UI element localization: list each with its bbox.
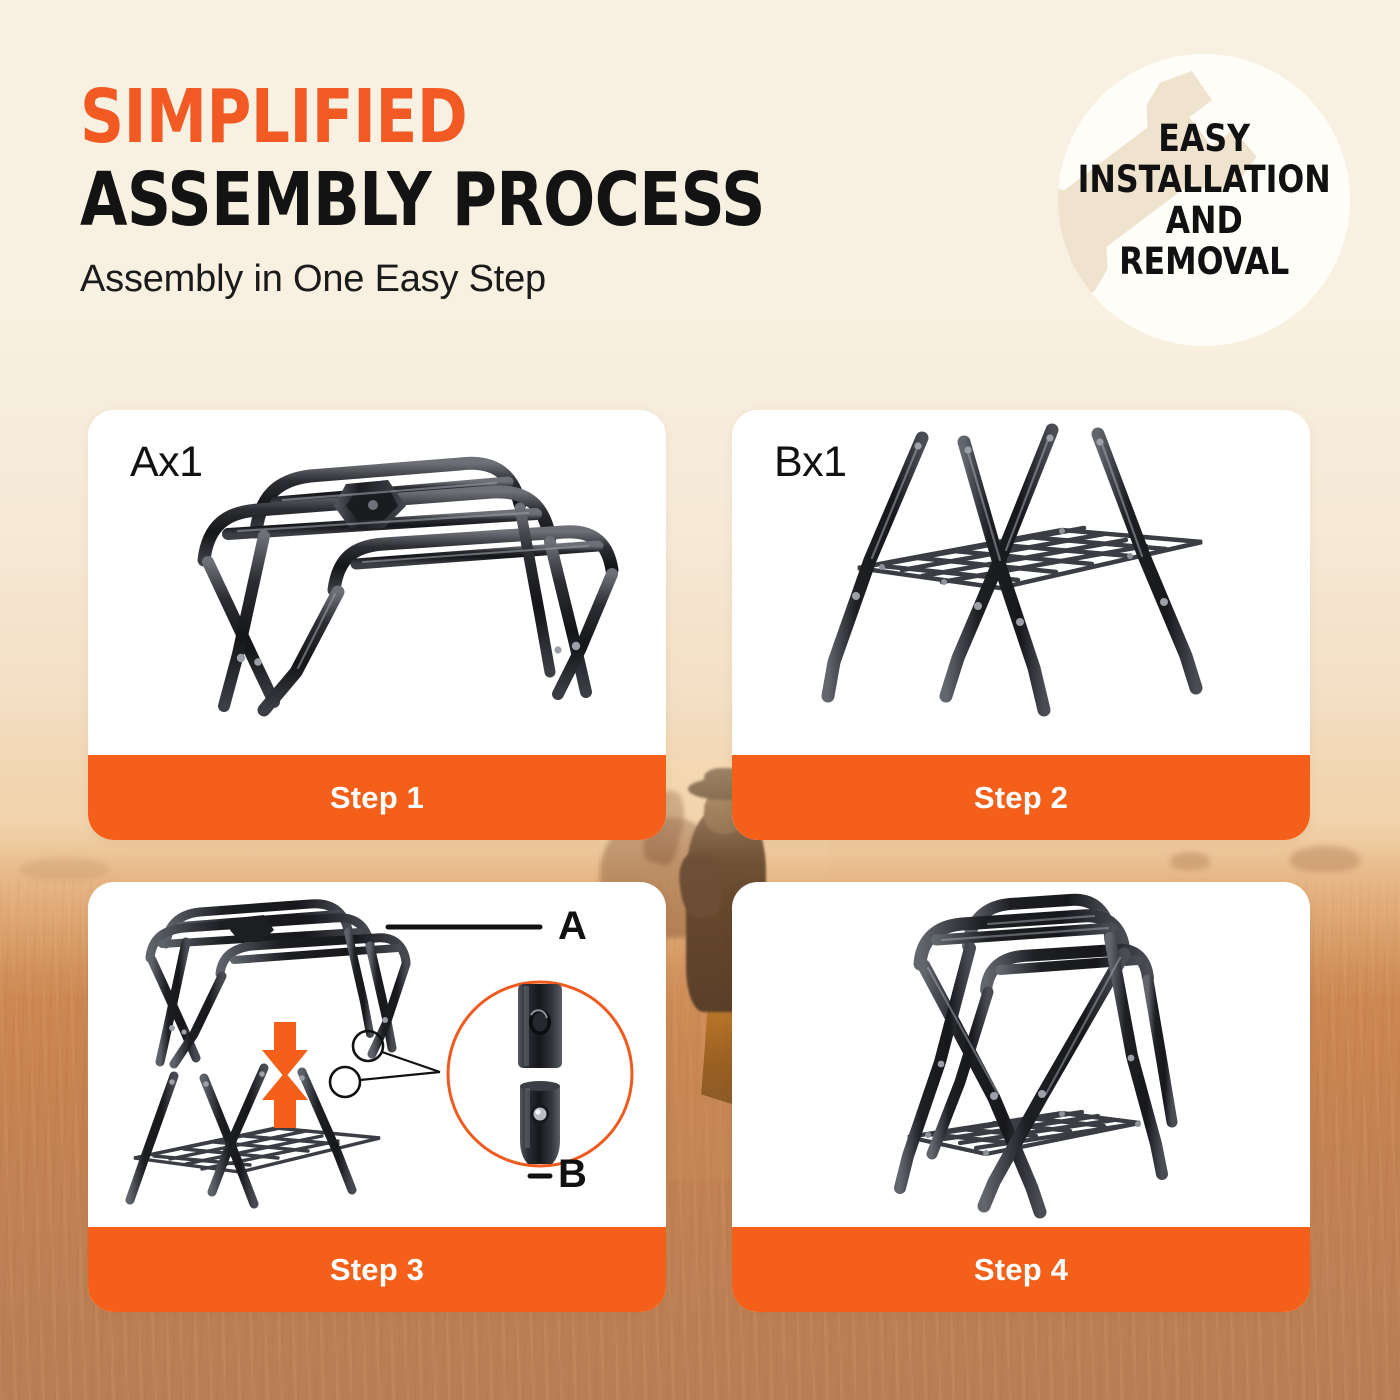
page-title-line1: SIMPLIFIED xyxy=(80,78,834,156)
badge-line-4: REMOVAL xyxy=(1077,241,1330,282)
upper-tube-detail xyxy=(518,984,562,1068)
step-3-footer: Step 3 xyxy=(88,1227,666,1312)
header-block: SIMPLIFIED ASSEMBLY PROCESS Assembly in … xyxy=(80,78,900,302)
background-bush xyxy=(20,858,110,880)
step-card-2[interactable]: Bx1 xyxy=(732,410,1310,840)
callout-label-b: B xyxy=(558,1152,587,1197)
lower-tube-detail xyxy=(520,1081,560,1164)
badge-line-3: AND xyxy=(1077,200,1330,241)
step-3-label: Step 3 xyxy=(330,1252,424,1288)
page-title-line2: ASSEMBLY PROCESS xyxy=(80,160,834,240)
badge-line-2: INSTALLATION xyxy=(1077,159,1330,200)
step-4-label: Step 4 xyxy=(974,1252,1068,1288)
step-4-footer: Step 4 xyxy=(732,1227,1310,1312)
callout-label-a: A xyxy=(558,904,587,949)
step-2-footer: Step 2 xyxy=(732,755,1310,840)
step-1-label: Step 1 xyxy=(330,780,424,816)
assembled-saddle-rack-photo xyxy=(732,882,1310,1227)
detail-zoom-callout xyxy=(448,982,632,1166)
easy-installation-badge: EASY INSTALLATION AND REMOVAL xyxy=(1058,54,1350,346)
step-3-body: A B xyxy=(88,882,666,1227)
step-4-body xyxy=(732,882,1310,1227)
step-1-footer: Step 1 xyxy=(88,755,666,840)
step-1-body: Ax1 xyxy=(88,410,666,755)
badge-text-block: EASY INSTALLATION AND REMOVAL xyxy=(1068,118,1340,282)
step-card-3[interactable]: A B Step 3 xyxy=(88,882,666,1312)
step-2-body: Bx1 xyxy=(732,410,1310,755)
step-card-1[interactable]: Ax1 xyxy=(88,410,666,840)
page-subtitle: Assembly in One Easy Step xyxy=(80,256,900,302)
step-card-4[interactable]: Step 4 xyxy=(732,882,1310,1312)
infographic-page: SIMPLIFIED ASSEMBLY PROCESS Assembly in … xyxy=(0,0,1400,1400)
leg-base-with-wire-shelf-photo xyxy=(732,410,1310,755)
folded-top-frame-photo xyxy=(88,410,666,755)
background-bush xyxy=(1290,846,1360,872)
badge-line-1: EASY xyxy=(1077,118,1330,159)
background-bush xyxy=(1170,852,1210,870)
step-2-label: Step 2 xyxy=(974,780,1068,816)
